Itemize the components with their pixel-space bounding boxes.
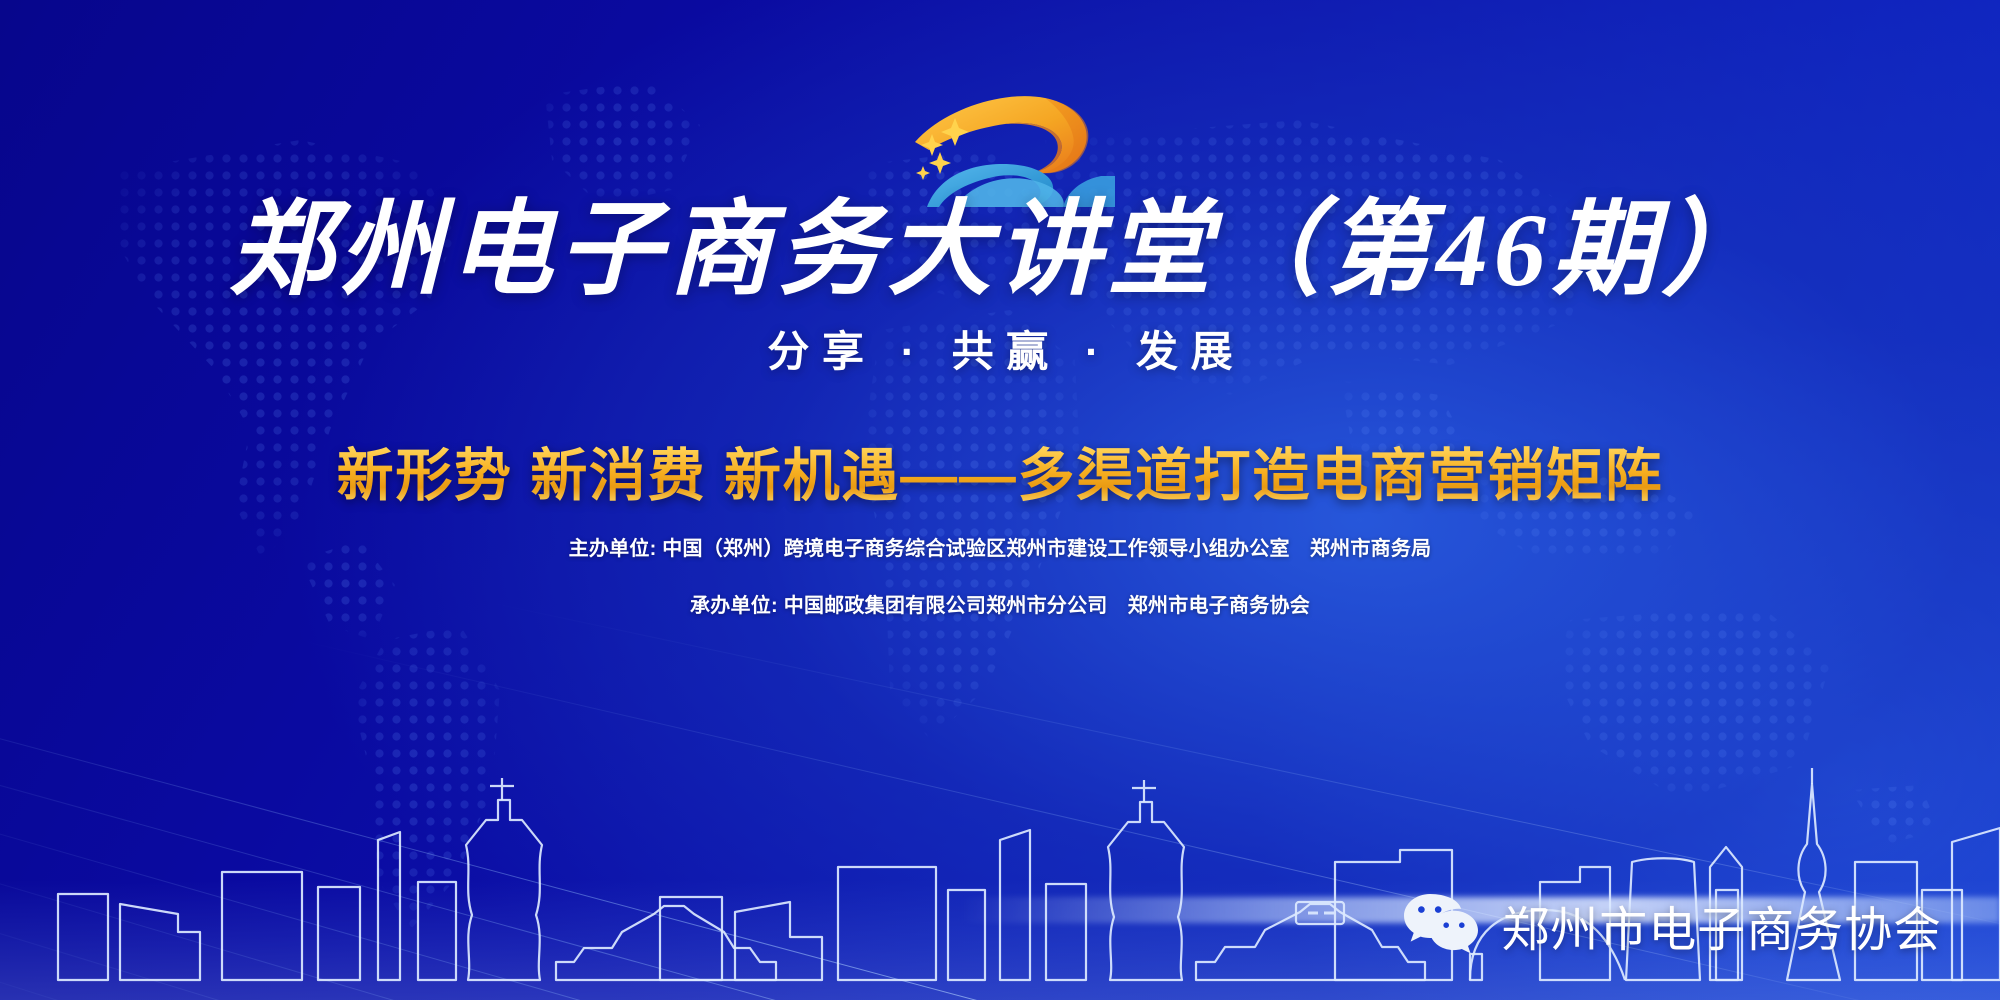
banner-canvas: 郑州电子商务大讲堂（第46期） 分享 · 共赢 · 发展 新形势 新消费 新机遇… [0, 0, 2000, 1000]
wechat-icon [1403, 892, 1479, 958]
host-organization-line: 主办单位: 中国（郑州）跨境电子商务综合试验区郑州市建设工作领导小组办公室 郑州… [0, 532, 2000, 561]
wechat-account-lockup: 郑州市电子商务协会 [1403, 890, 1942, 960]
page-title: 郑州电子商务大讲堂（第46期） [0, 196, 2000, 305]
wechat-account-name: 郑州市电子商务协会 [1501, 890, 1942, 960]
co-organizer-line: 承办单位: 中国邮政集团有限公司郑州市分公司 郑州市电子商务协会 [0, 589, 2000, 618]
slogan: 分享 · 共赢 · 发展 [0, 318, 2000, 379]
cross-border-ecommerce-logo [885, 72, 1115, 207]
organizer-block: 主办单位: 中国（郑州）跨境电子商务综合试验区郑州市建设工作领导小组办公室 郑州… [0, 532, 2000, 646]
topic-headline: 新形势 新消费 新机遇——多渠道打造电商营销矩阵 [0, 430, 2000, 512]
